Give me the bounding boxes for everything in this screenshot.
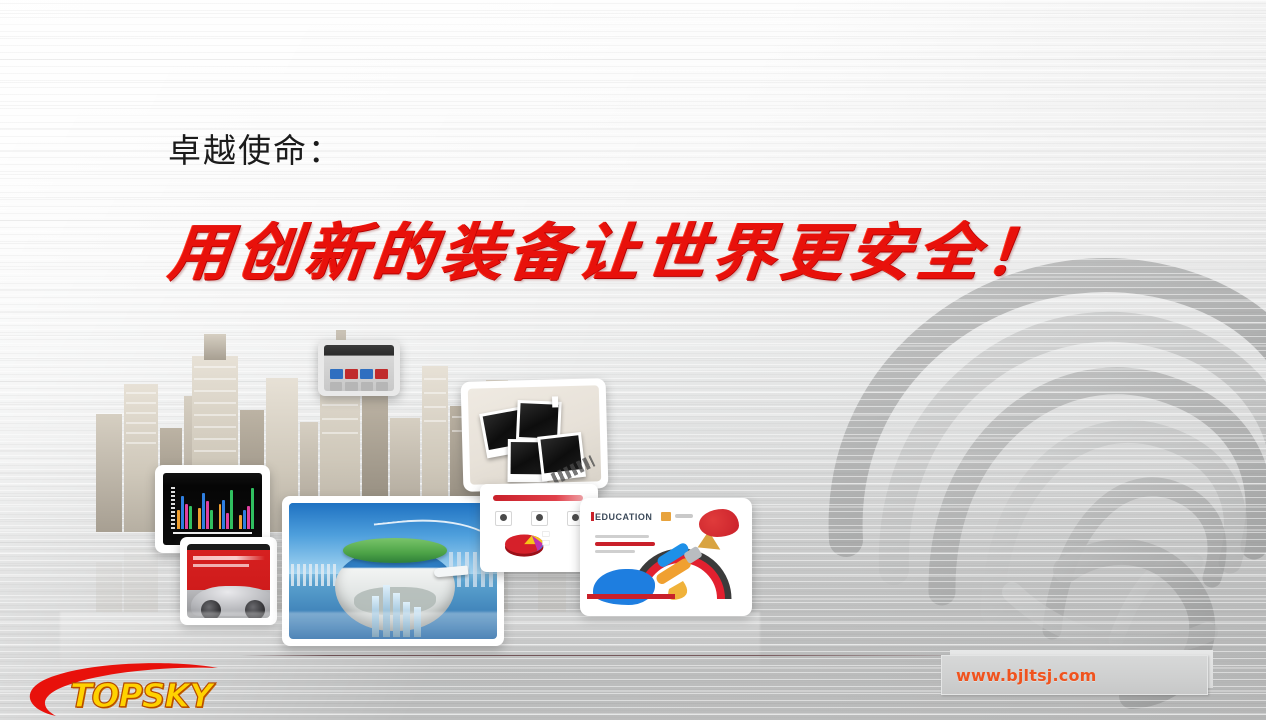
breaker-panel-screen [324,345,394,391]
globe-tower-1 [372,596,379,637]
pie-chart-slide [487,491,591,565]
bar-G1-green [189,506,192,529]
bar-group-gap [193,528,197,529]
website-url-text: www.bjltsj.com [956,666,1097,685]
globe-city-photo-card [282,496,504,646]
bar-G3-pink [226,513,229,529]
url-box-panel: www.bjltsj.com [941,655,1208,695]
bar-G2-orange [198,508,201,529]
bar-G1-pink [185,504,188,529]
bar-G2-pink [206,501,209,529]
education-title-accent [591,512,594,521]
bar-group-gap [214,528,218,529]
education-bottom-bar [587,594,675,599]
slide-subtitle: 卓越使命： [168,124,343,172]
photo-collage-card [461,378,609,492]
car-wheel-rear [245,600,265,618]
education-slide: EDUCATION [587,505,745,609]
breaker-panel-device-card [318,340,400,396]
bar-G4-green [251,488,254,529]
globe-tower-5 [414,607,421,637]
website-url-box[interactable]: www.bjltsj.com [941,650,1213,693]
bar-G2-green [210,510,213,529]
chart-axis-ticks [171,487,175,531]
bar-G4-pink [247,506,250,529]
slide-title-bar [493,495,582,502]
bar-G4-orange [239,515,242,529]
education-blue-blob [593,569,655,605]
monitor-screen [163,473,262,545]
brochure-headline-bar [193,556,265,560]
chart-baseline [173,532,252,534]
bar-G3-green [230,490,233,529]
globe-tower-2 [383,585,390,637]
globe-tower-4 [403,602,410,637]
topsky-logo[interactable]: TOPSKY [22,662,232,718]
bar-chart-bars [177,483,254,529]
bar-G1-blue [181,496,184,529]
education-badge-icon [661,512,671,521]
logo-wordmark: TOPSKY [70,676,212,715]
car-wheel-front [201,600,221,618]
image-collage: EDUCATION [60,300,780,680]
brochure-subline-bar [193,564,249,567]
footer-divider [240,655,980,656]
globe-photo [289,503,497,639]
bar-G4-blue [243,510,246,529]
bar-G3-orange [219,504,222,529]
car-brochure-image [187,544,270,618]
swirl-watermark-icon [816,240,1266,720]
polaroid-3 [552,396,558,407]
globe-green-island [343,538,447,562]
education-badge-label [675,514,693,518]
education-red-blob [699,509,739,537]
presentation-slide: 卓越使命： 用创新的装备让世界更安全！ [0,0,1266,720]
bar-G2-blue [202,493,205,529]
bar-G1-orange [177,510,180,529]
photo-collage-image [468,385,601,484]
bar-G3-blue [222,500,225,529]
education-card: EDUCATION [580,498,752,616]
globe-tower-3 [393,593,400,637]
globe-city-left [291,564,337,586]
bar-group-gap [234,528,238,529]
car-brochure-card [180,537,277,625]
slide-headline: 用创新的装备让世界更安全！ [165,202,1058,292]
pie-chart-graphic [497,521,555,559]
